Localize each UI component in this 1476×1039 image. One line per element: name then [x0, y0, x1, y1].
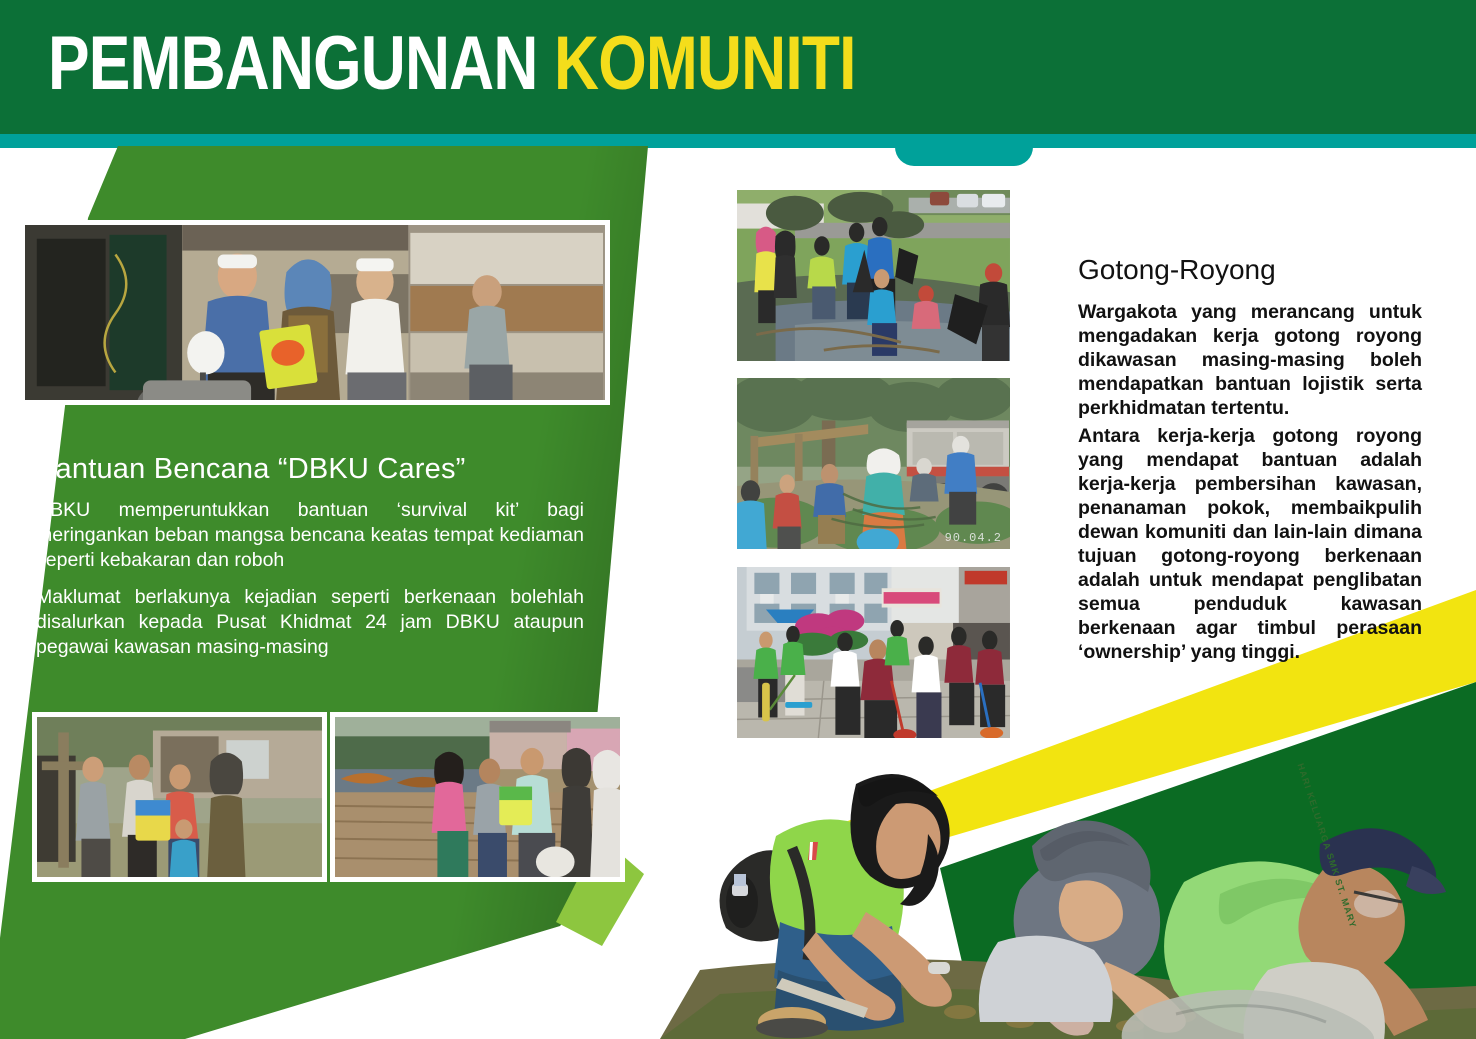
photo-main-handover — [20, 220, 610, 405]
header-band: PEMBANGUNAN KOMUNITI — [0, 0, 1476, 134]
right-column-heading: Gotong-Royong — [1078, 253, 1428, 287]
photo-hero-volunteers: HARI KELUARGA SMK ST. MARY — [660, 726, 1476, 1039]
photo-bottom-left-2 — [330, 712, 625, 882]
page-title-part2: KOMUNITI — [554, 21, 856, 106]
photo-bl1-artwork — [37, 717, 322, 881]
page-title-part1: PEMBANGUNAN — [48, 21, 538, 106]
photo-mid1-artwork — [737, 190, 1010, 365]
photo-mid2-artwork — [737, 378, 1010, 553]
header-accent-bar — [0, 134, 1476, 148]
photo-bottom-left-1 — [32, 712, 327, 882]
left-panel-paragraph-2: Maklumat berlakunya kejadian seperti ber… — [36, 585, 584, 660]
photo-bl2-artwork — [335, 717, 620, 881]
photo-mid-3 — [732, 562, 1015, 743]
photo-main-artwork — [25, 225, 605, 405]
page-title: PEMBANGUNAN KOMUNITI — [48, 18, 1114, 110]
right-column-paragraph-2: Antara kerja-kerja gotong royong yang me… — [1078, 424, 1422, 664]
left-panel-heading: Bantuan Bencana “DBKU Cares” — [36, 452, 576, 486]
photo-mid3-artwork — [737, 567, 1010, 742]
photo-mid-2: 90.04.2 — [732, 373, 1015, 554]
photo-mid2-watermark: 90.04.2 — [945, 531, 1002, 545]
left-panel-paragraph-1: DBKU memperuntukkan bantuan ‘survival ki… — [36, 498, 584, 573]
photo-hero-artwork — [660, 726, 1476, 1039]
right-column-paragraph-1: Wargakota yang merancang untuk mengadaka… — [1078, 300, 1422, 420]
poster-page: PEMBANGUNAN KOMUNITI — [0, 0, 1476, 1039]
photo-mid-1 — [732, 185, 1015, 366]
header-tab-notch — [895, 147, 1033, 166]
